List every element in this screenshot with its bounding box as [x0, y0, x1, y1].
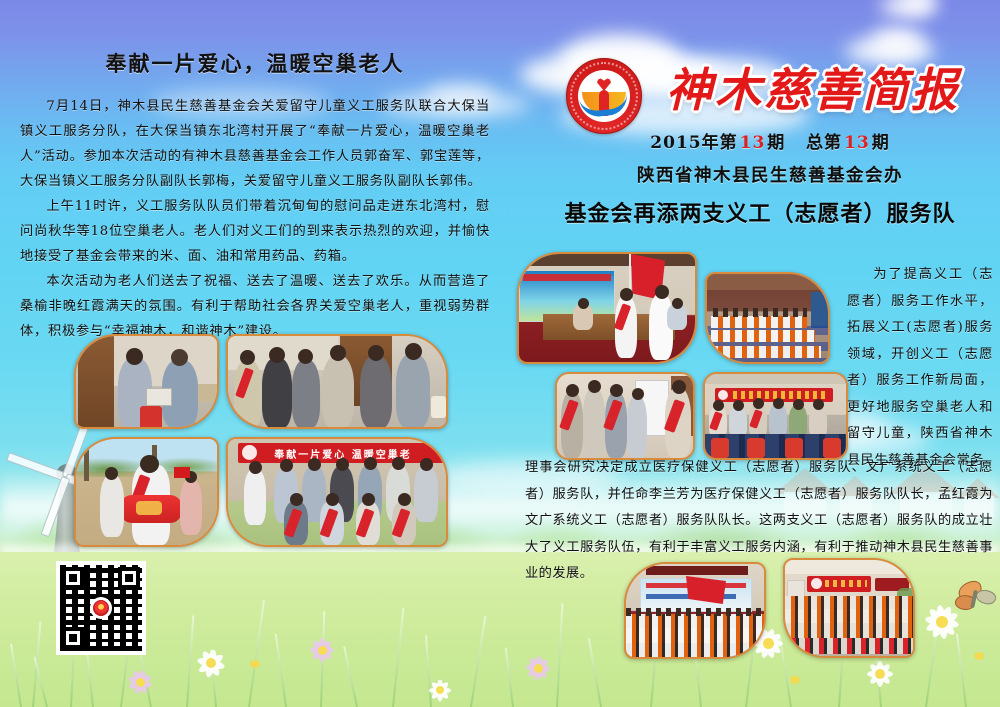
photo-flag-ceremony[interactable]	[517, 252, 697, 364]
foundation-logo-icon	[566, 58, 642, 134]
photo-lobby-group[interactable]	[783, 558, 915, 658]
left-article-body: 7月14日，神木县民生慈善基金会关爱留守儿童义工服务队联合大保当镇义工服务分队，…	[20, 94, 490, 344]
right-article-headline: 基金会再添两支义工（志愿者）服务队	[520, 196, 1000, 228]
left-article-headline: 奉献一片爱心，温暖空巢老人	[20, 48, 490, 78]
photo-outdoor-rice-delivery[interactable]	[74, 437, 219, 547]
issue-number: 13	[738, 133, 768, 153]
qr-pattern	[60, 565, 142, 651]
photo-hall-rows[interactable]	[705, 272, 830, 364]
left-paragraph-1: 7月14日，神木县民生慈善基金会关爱留守儿童义工服务队联合大保当镇义工服务分队，…	[20, 94, 490, 194]
issue-total-prefix: 总第	[806, 133, 842, 153]
issue-prefix: 2015年第	[650, 133, 737, 153]
left-article-column: 奉献一片爱心，温暖空巢老人 7月14日，神木县民生慈善基金会关爱留守儿童义工服务…	[20, 48, 490, 344]
photo-indoor-group[interactable]	[226, 334, 448, 429]
newsletter-page: 奉献一片爱心，温暖空巢老人 7月14日，神木县民生慈善基金会关爱留守儿童义工服务…	[0, 0, 1000, 707]
photo-stage-group[interactable]	[624, 562, 766, 659]
issue-total-number: 13	[842, 133, 872, 153]
issue-line: 2015年第13期 总第13期	[570, 128, 970, 153]
issue-unit: 期	[767, 133, 785, 153]
issue-total-unit: 期	[872, 133, 890, 153]
photo-meeting-hall[interactable]	[703, 372, 848, 460]
qr-center-logo-icon	[91, 598, 111, 618]
masthead-title: 神木慈善简报	[666, 56, 996, 124]
left-paragraph-2: 上午11时许，义工服务队队员们带着沉甸甸的慰问品走进东北湾村，慰问尚秋华等18位…	[20, 194, 490, 269]
publisher-line: 陕西省神木县民生慈善基金会办	[550, 162, 990, 187]
photo-clinic-visit[interactable]	[555, 372, 695, 460]
right-body-top: 为了提高义工（志愿者）服务工作水平，拓展义工(志愿者)服务领域，开创义工（志愿者…	[847, 262, 993, 474]
photo-outdoor-banner-group[interactable]: 奉献一片爱心 温暖空巢老	[226, 437, 448, 547]
qr-code[interactable]	[56, 561, 146, 655]
photo-indoor-handover[interactable]	[74, 334, 219, 429]
left-paragraph-3: 本次活动为老人们送去了祝福、送去了温暖、送去了欢乐。从而营造了桑榆非晚红霞满天的…	[20, 269, 490, 344]
masthead: 神木慈善简报	[558, 56, 998, 134]
